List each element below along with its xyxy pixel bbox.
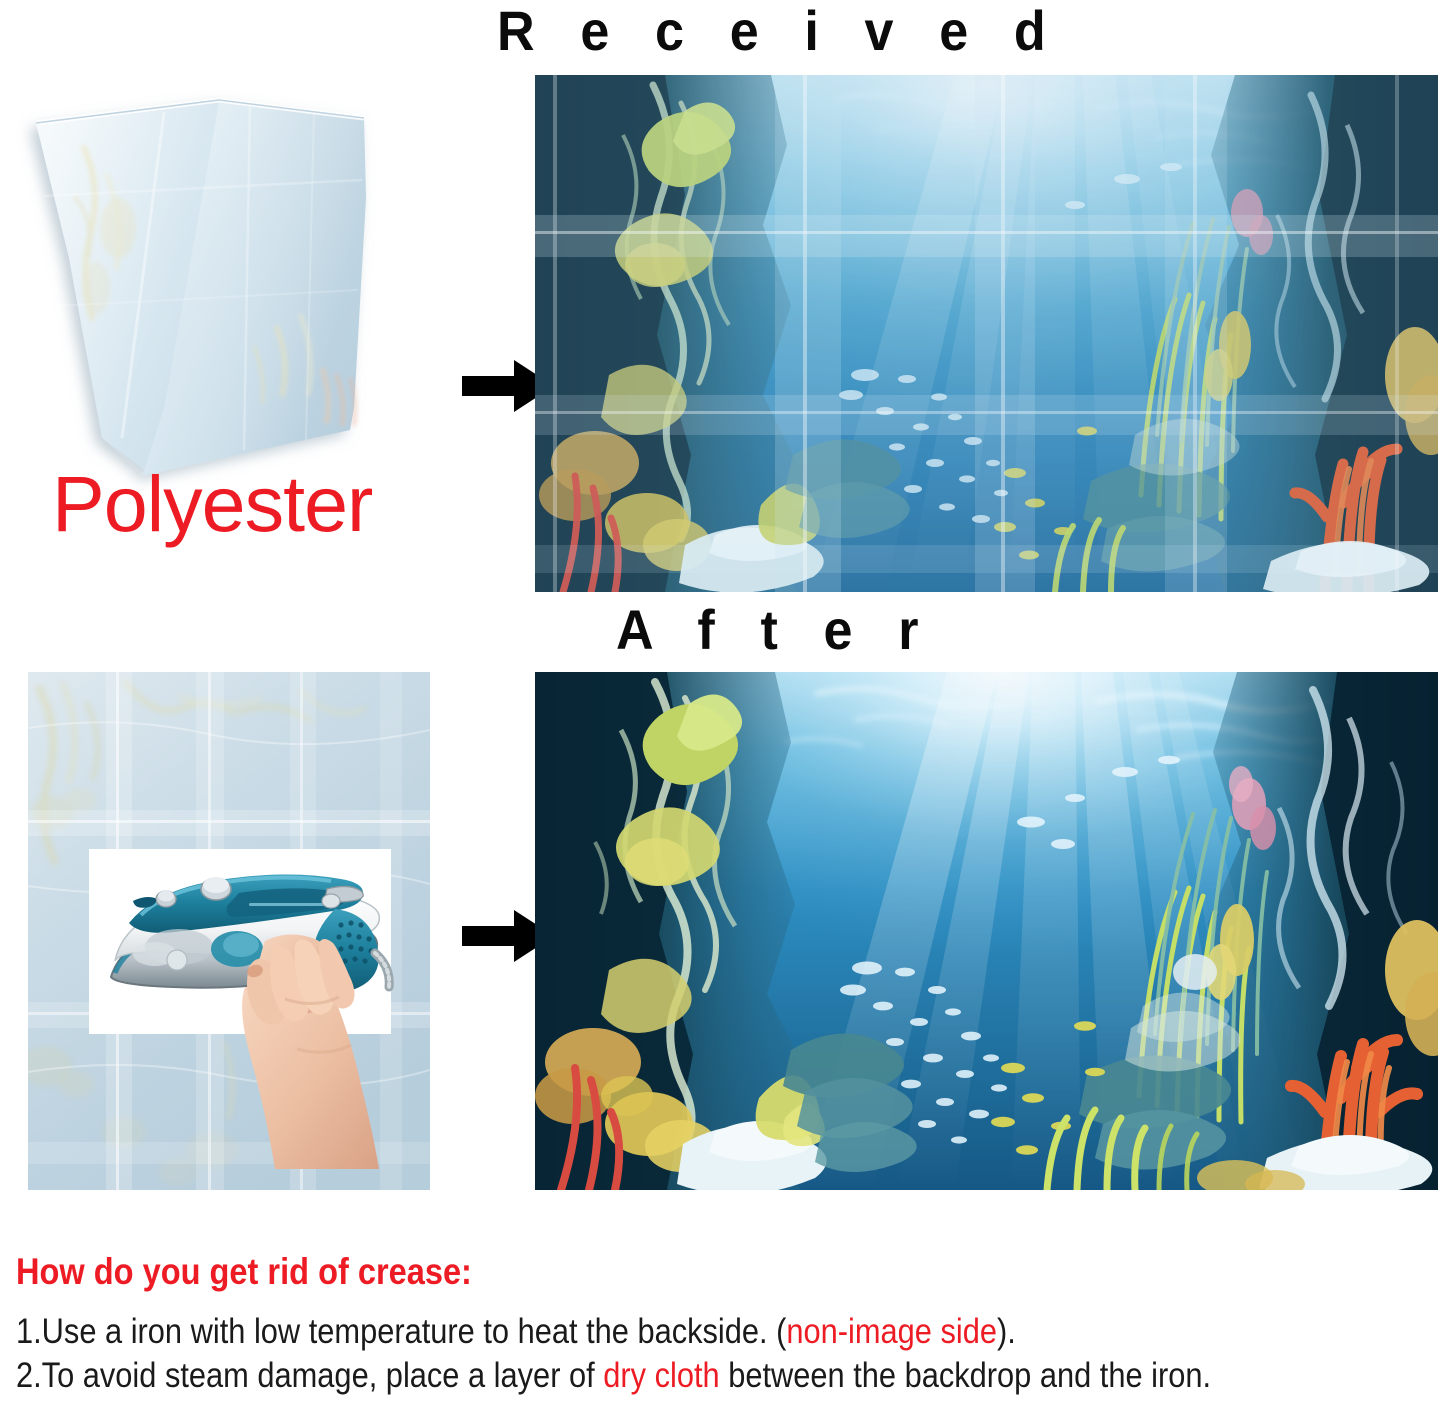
instruction-2-part2: between the backdrop and the iron.: [720, 1356, 1211, 1395]
instruction-2-highlight: dry cloth: [603, 1356, 719, 1395]
instruction-1-part1: 1.Use a iron with low temperature to hea…: [16, 1312, 786, 1351]
instruction-line-2: 2.To avoid steam damage, place a layer o…: [16, 1354, 1266, 1398]
folded-fabric-image: [14, 78, 434, 498]
instruction-1-part2: ).: [997, 1312, 1016, 1351]
instruction-2-part1: 2.To avoid steam damage, place a layer o…: [16, 1356, 603, 1395]
instruction-line-1: 1.Use a iron with low temperature to hea…: [16, 1310, 1266, 1354]
received-heading: R e c e i v e d: [497, 0, 1061, 64]
care-instructions: How do you get rid of crease: 1.Use a ir…: [16, 1248, 1436, 1398]
instructions-title: How do you get rid of crease:: [16, 1248, 1266, 1296]
product-instruction-sheet: R e c e i v e d: [0, 0, 1438, 1402]
after-heading: A f t e r: [616, 597, 934, 663]
instruction-1-highlight: non-image side: [786, 1312, 997, 1351]
polyester-label: Polyester: [52, 460, 372, 548]
iron-photo-card: [89, 849, 391, 1034]
received-backdrop-image: [535, 75, 1438, 592]
after-backdrop-image: [535, 672, 1438, 1190]
